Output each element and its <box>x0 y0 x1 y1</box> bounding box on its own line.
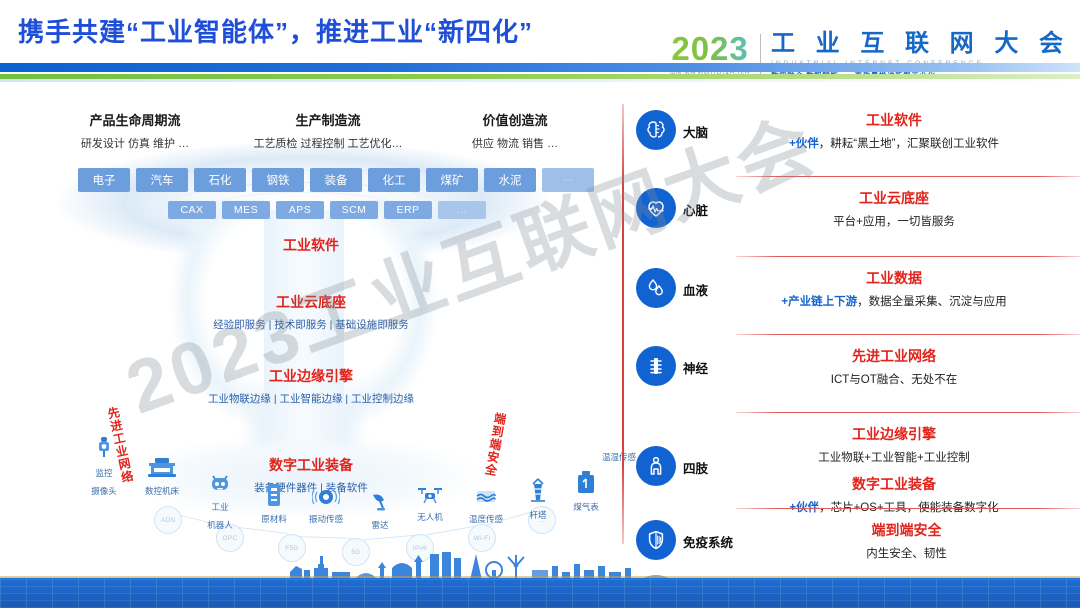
limbs-body-icon <box>636 446 676 486</box>
left-architecture-panel: 产品生命周期流 研发设计 仿真 维护 … 生产制造流 工艺质检 过程控制 工艺优… <box>0 100 622 560</box>
robot-icon <box>208 473 232 495</box>
funnel-layer-cloud-base: 工业云底座 经验即服务 | 技术即服务 | 基础设施即服务 <box>0 292 622 332</box>
temperature-sensor-icon <box>474 487 498 507</box>
capability-row-heart[interactable]: 心脏 工业云底座 平台+应用，一切皆服务 <box>636 188 1080 229</box>
drone-icon <box>416 485 444 505</box>
capability-desc-rest: ，数据全量采集、沉淀与应用 <box>857 296 1007 308</box>
device-icon-row: 监控 摄像头 数控机床 工业 机器人 <box>10 435 610 545</box>
device-label: 煤气表 <box>573 502 599 512</box>
capability-title-secondary: 数字工业装备 <box>708 474 1080 494</box>
device-drone: 无人机 <box>402 485 458 525</box>
camera-icon <box>94 437 114 461</box>
capability-row-brain[interactable]: 大脑 工业软件 +伙伴，耕耘“黑土地”，汇聚联创工业软件 <box>636 110 1080 151</box>
device-cnc-machine: 数控机床 <box>134 457 190 499</box>
capability-title: 端到端安全 <box>733 520 1080 540</box>
industry-chip[interactable]: 汽车 <box>136 168 188 192</box>
device-label: 原材料 <box>261 514 287 524</box>
software-chip[interactable]: SCM <box>330 201 378 219</box>
capability-text: 先进工业网络 ICT与OT融合、无处不在 <box>708 346 1080 387</box>
flow-column-manufacturing: 生产制造流 工艺质检 过程控制 工艺优化… <box>228 110 428 151</box>
capability-desc-highlight: +伙伴 <box>789 138 819 150</box>
capability-desc-rest: ，耕耘“黑土地”，汇聚联创工业软件 <box>819 138 999 150</box>
panel-divider <box>622 104 624 544</box>
organ-label: 四肢 <box>683 458 708 477</box>
organ-label: 血液 <box>683 280 708 299</box>
industry-chip[interactable]: 化工 <box>368 168 420 192</box>
capability-title: 工业数据 <box>708 268 1080 288</box>
flow-title: 产品生命周期流 <box>40 110 230 129</box>
tower-icon <box>528 477 548 503</box>
industry-chip[interactable]: 煤矿 <box>426 168 478 192</box>
capability-desc: 平台+应用，一切皆服务 <box>708 213 1080 229</box>
device-robot: 工业 机器人 <box>192 473 248 533</box>
capability-desc: +伙伴，耕耘“黑土地”，汇聚联创工业软件 <box>708 135 1080 151</box>
software-chip[interactable]: ERP <box>384 201 432 219</box>
slide-header: 携手共建“工业智能体”，推进工业“新四化” 2023 中国·苏州 时间11月14… <box>0 0 1080 100</box>
organ-label: 大脑 <box>683 122 708 141</box>
funnel-layer-industrial-software: 工业软件 <box>0 235 622 255</box>
flow-subtitle: 供应 物流 销售 … <box>430 135 600 151</box>
capability-text: 工业数据 +产业链上下游，数据全量采集、沉淀与应用 <box>708 268 1080 309</box>
capability-row-limbs[interactable]: 四肢 工业边缘引擎 工业物联+工业智能+工业控制 数字工业装备 +伙伴，芯片+O… <box>636 424 1080 515</box>
industry-chip[interactable]: 石化 <box>194 168 246 192</box>
funnel-layer-edge-engine: 工业边缘引擎 工业物联边缘 | 工业智能边缘 | 工业控制边缘 <box>0 366 622 406</box>
spine-nerve-icon <box>636 346 676 386</box>
device-raw-material: 原材料 <box>246 483 302 527</box>
industry-chip[interactable]: 水泥 <box>484 168 536 192</box>
flow-title: 价值创造流 <box>430 110 600 129</box>
flow-subtitle: 研发设计 仿真 维护 … <box>40 135 230 151</box>
device-radar: 雷达 <box>352 491 408 533</box>
capability-text: 工业边缘引擎 工业物联+工业智能+工业控制 数字工业装备 +伙伴，芯片+OS+工… <box>708 424 1080 515</box>
ground-grid-band <box>0 578 1080 608</box>
row-separator <box>736 256 1080 257</box>
cnc-machine-icon <box>147 457 177 479</box>
capability-desc: ICT与OT融合、无处不在 <box>708 371 1080 387</box>
software-chip[interactable]: MES <box>222 201 270 219</box>
capability-desc-secondary: +伙伴，芯片+OS+工具，使能装备数字化 <box>708 499 1080 515</box>
radar-icon <box>369 491 391 513</box>
industry-chip-more[interactable]: … <box>542 168 594 192</box>
device-label: 杆塔 <box>529 510 546 520</box>
device-label: 温湿传感 <box>602 452 636 462</box>
logo-chinese-name: 工 业 互 联 网 大 会 <box>771 32 1070 56</box>
capability-title: 工业边缘引擎 <box>708 424 1080 444</box>
capability-title: 工业云底座 <box>708 188 1080 208</box>
header-fade-rule <box>0 79 1080 82</box>
device-label: 工业 机器人 <box>207 502 233 530</box>
flow-column-product-lifecycle: 产品生命周期流 研发设计 仿真 维护 … <box>40 110 230 151</box>
gas-meter-icon <box>576 471 596 495</box>
device-label: 温度传感 <box>469 514 503 524</box>
software-chip[interactable]: APS <box>276 201 324 219</box>
device-label: 振动传感 <box>309 514 343 524</box>
row-separator <box>736 334 1080 335</box>
right-capability-panel: 大脑 工业软件 +伙伴，耕耘“黑土地”，汇聚联创工业软件 心脏 工业云底座 平台… <box>636 104 1080 554</box>
capability-title: 先进工业网络 <box>708 346 1080 366</box>
row-separator <box>736 412 1080 413</box>
capability-desc-highlight: +产业链上下游 <box>781 296 857 308</box>
flow-subtitle: 工艺质检 过程控制 工艺优化… <box>228 135 428 151</box>
capability-desc: +产业链上下游，数据全量采集、沉淀与应用 <box>708 293 1080 309</box>
device-label: 监控 摄像头 <box>91 468 117 496</box>
raw-material-icon <box>266 483 282 507</box>
slide-root: 携手共建“工业智能体”，推进工业“新四化” 2023 中国·苏州 时间11月14… <box>0 0 1080 608</box>
row-separator <box>736 508 1080 509</box>
device-camera: 监控 摄像头 <box>76 437 132 499</box>
industry-chip[interactable]: 装备 <box>310 168 362 192</box>
flow-title: 生产制造流 <box>228 110 428 129</box>
capability-row-blood[interactable]: 血液 工业数据 +产业链上下游，数据全量采集、沉淀与应用 <box>636 268 1080 309</box>
funnel-layer-title: 工业软件 <box>0 235 622 255</box>
device-gas-meter: 煤气表 <box>558 471 614 515</box>
device-vibration-sensor: 振动传感 <box>298 487 354 527</box>
funnel-layer-subtitle: 工业物联边缘 | 工业智能边缘 | 工业控制边缘 <box>0 391 622 406</box>
software-chip-row: CAX MES APS SCM ERP … <box>168 201 486 219</box>
heart-pulse-icon <box>636 188 676 228</box>
organ-label: 神经 <box>683 358 708 377</box>
funnel-layer-subtitle: 经验即服务 | 技术即服务 | 基础设施即服务 <box>0 317 622 332</box>
organ-label: 心脏 <box>683 200 708 219</box>
ground-grid-pattern <box>0 578 1080 608</box>
logo-year: 2023 <box>670 32 750 65</box>
funnel-layer-title: 工业边缘引擎 <box>0 366 622 386</box>
logo-divider <box>760 34 761 79</box>
industry-chip[interactable]: 钢铁 <box>252 168 304 192</box>
capability-text: 工业云底座 平台+应用，一切皆服务 <box>708 188 1080 229</box>
capability-title: 工业软件 <box>708 110 1080 130</box>
device-label: 数控机床 <box>145 486 179 496</box>
organ-label: 免疫系统 <box>683 532 733 551</box>
flow-column-value-creation: 价值创造流 供应 物流 销售 … <box>430 110 600 151</box>
brain-icon <box>636 110 676 150</box>
capability-row-nerve[interactable]: 神经 先进工业网络 ICT与OT融合、无处不在 <box>636 346 1080 387</box>
capability-desc: 工业物联+工业智能+工业控制 <box>708 449 1080 465</box>
capability-text: 工业软件 +伙伴，耕耘“黑土地”，汇聚联创工业软件 <box>708 110 1080 151</box>
software-chip-more[interactable]: … <box>438 201 486 219</box>
vibration-sensor-icon <box>312 487 340 507</box>
device-label: 雷达 <box>371 520 388 530</box>
blood-drop-icon <box>636 268 676 308</box>
industry-chip[interactable]: 电子 <box>78 168 130 192</box>
page-title: 携手共建“工业智能体”，推进工业“新四化” <box>18 12 533 49</box>
device-label: 无人机 <box>417 512 443 522</box>
industry-chip-row: 电子 汽车 石化 钢铁 装备 化工 煤矿 水泥 … <box>78 168 594 192</box>
row-separator <box>736 176 1080 177</box>
software-chip[interactable]: CAX <box>168 201 216 219</box>
header-blue-rule <box>0 63 1080 72</box>
slide-footer <box>0 552 1080 608</box>
funnel-layer-title: 工业云底座 <box>0 292 622 312</box>
device-temperature-sensor: 温度传感 <box>458 487 514 527</box>
